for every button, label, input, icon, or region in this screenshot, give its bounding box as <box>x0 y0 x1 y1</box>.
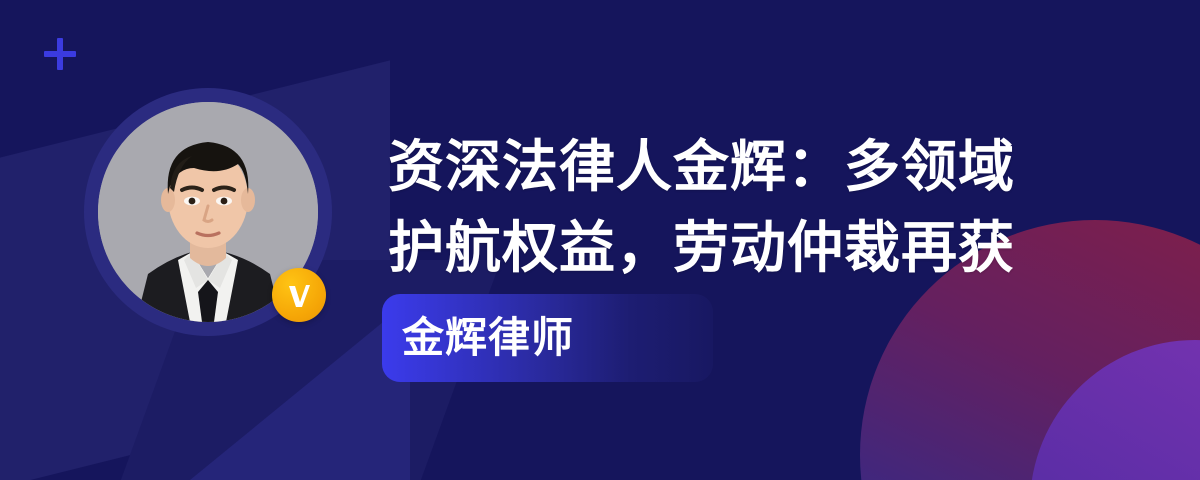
avatar <box>84 88 332 336</box>
lawyer-name-label: 金辉律师 <box>382 317 574 359</box>
promo-banner: 资深法律人金辉：多领域 护航权益，劳动仲裁再获 佳绩 金辉律师 <box>0 0 1200 480</box>
verified-check-icon <box>272 268 326 322</box>
plus-icon <box>44 38 76 70</box>
lawyer-name-badge[interactable]: 金辉律师 <box>382 294 713 382</box>
